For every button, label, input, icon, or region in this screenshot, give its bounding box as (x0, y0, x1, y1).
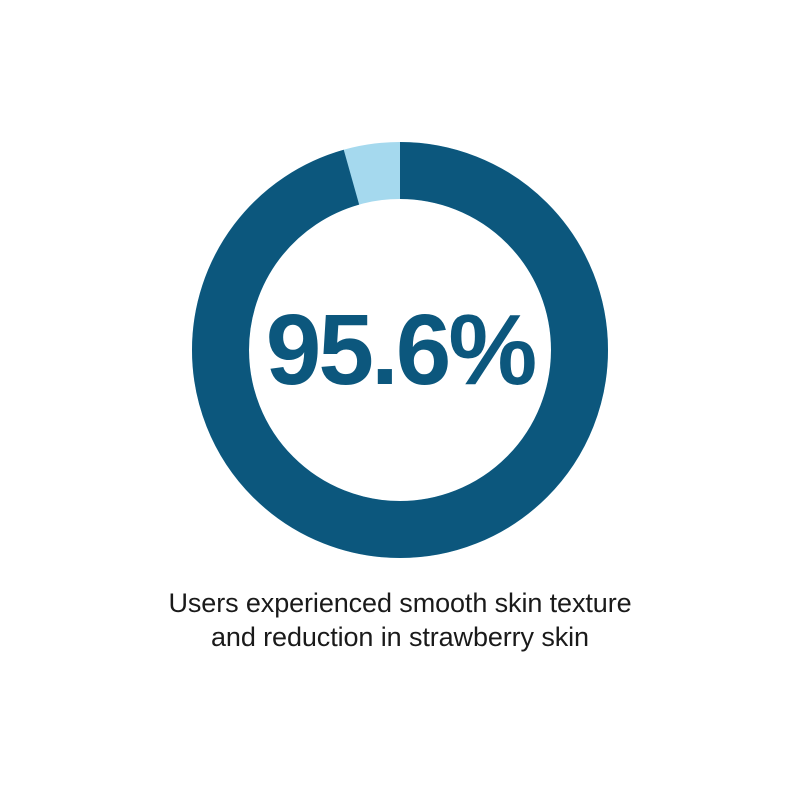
donut-chart (192, 142, 608, 558)
chart-caption: Users experienced smooth skin texture an… (60, 586, 740, 654)
donut-primary-arc (221, 171, 580, 530)
donut-chart-svg (192, 142, 608, 558)
caption-line-1: Users experienced smooth skin texture (60, 586, 740, 620)
infographic-container: 95.6% Users experienced smooth skin text… (0, 0, 800, 800)
caption-line-2: and reduction in strawberry skin (60, 620, 740, 654)
